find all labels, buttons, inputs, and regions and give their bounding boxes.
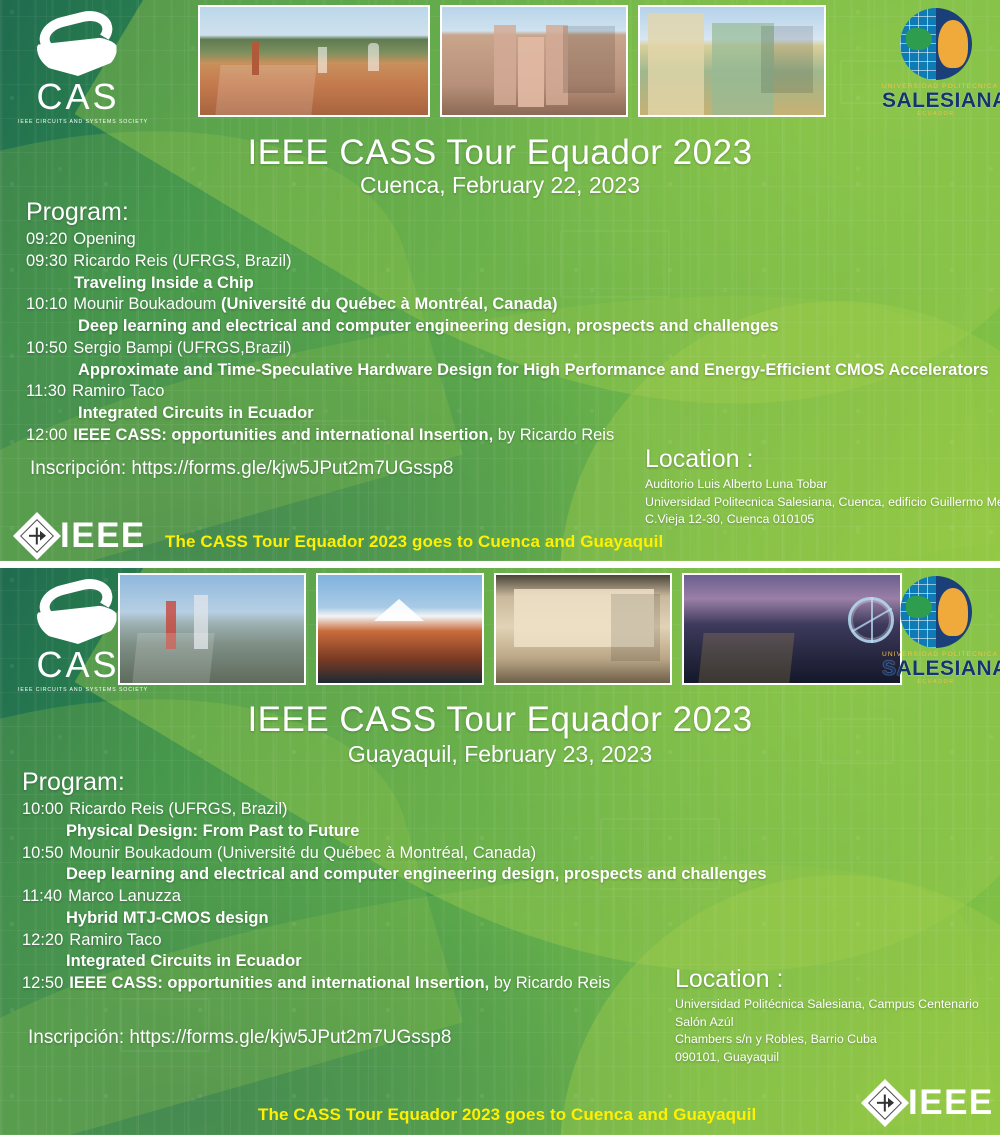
cas-emblem-icon bbox=[31, 14, 126, 76]
program-talk-title: Deep learning and electrical and compute… bbox=[22, 864, 767, 886]
location-line: Auditorio Luis Alberto Luna Tobar bbox=[645, 476, 1000, 494]
tagline-cuenca: The CASS Tour Equador 2023 goes to Cuenc… bbox=[165, 532, 663, 552]
program-speaker: by Ricardo Reis bbox=[489, 974, 610, 992]
tagline-guayaquil: The CASS Tour Equador 2023 goes to Cuenc… bbox=[258, 1105, 756, 1125]
location-heading: Location : bbox=[645, 446, 1000, 472]
program-speaker: Ramiro Taco bbox=[72, 382, 164, 400]
program-time: 10:50 bbox=[22, 844, 63, 862]
inscription-link-guayaquil[interactable]: Inscripción: https://forms.gle/kjw5JPut2… bbox=[28, 1027, 451, 1049]
program-heading: Program: bbox=[26, 198, 989, 227]
program-talk-title: Hybrid MTJ-CMOS design bbox=[22, 908, 767, 930]
program-time: 12:00 bbox=[26, 426, 67, 444]
program-speaker-affiliation: (Université du Québec à Montréal, Canada… bbox=[221, 295, 558, 313]
guayaquil-skyline-photo bbox=[118, 573, 306, 685]
program-row: 09:30Ricardo Reis (UFRGS, Brazil) bbox=[26, 251, 989, 273]
ups-globe-icon bbox=[900, 576, 972, 648]
colonial-building-photo bbox=[494, 573, 672, 685]
cas-logo: CAS IEEE CIRCUITS AND SYSTEMS SOCIETY bbox=[18, 14, 138, 119]
program-talk-title: IEEE CASS: opportunities and internation… bbox=[69, 974, 489, 992]
program-talk-title: Approximate and Time-Speculative Hardwar… bbox=[26, 360, 989, 382]
location-line: Chambers s/n y Robles, Barrio Cuba bbox=[675, 1031, 979, 1049]
location-block-cuenca: Location : Auditorio Luis Alberto Luna T… bbox=[645, 446, 1000, 529]
cotopaxi-volcano-photo bbox=[316, 573, 484, 685]
ieee-diamond-icon bbox=[13, 511, 61, 559]
program-heading: Program: bbox=[22, 768, 767, 797]
program-speaker: Ricardo Reis (UFRGS, Brazil) bbox=[69, 800, 287, 818]
program-row: 12:20Ramiro Taco bbox=[22, 930, 767, 952]
location-line: C.Vieja 12-30, Cuenca 010105 bbox=[645, 511, 1000, 529]
program-time: 10:10 bbox=[26, 295, 67, 313]
cas-logo-subtitle: IEEE CIRCUITS AND SYSTEMS SOCIETY bbox=[18, 687, 138, 693]
program-time: 11:40 bbox=[22, 887, 62, 905]
panel-cuenca: CAS IEEE CIRCUITS AND SYSTEMS SOCIETY bbox=[0, 0, 1000, 561]
ups-logo-line2: SALESIANA bbox=[882, 658, 990, 679]
cas-logo-subtitle: IEEE CIRCUITS AND SYSTEMS SOCIETY bbox=[18, 119, 138, 125]
panel-guayaquil-program: Program: 10:00Ricardo Reis (UFRGS, Brazi… bbox=[22, 768, 767, 995]
ups-salesiana-logo: UNIVERSIDAD POLITECNICA SALESIANA ECUADO… bbox=[882, 576, 990, 684]
location-line: 090101, Guayaquil bbox=[675, 1049, 979, 1067]
poster-root: CAS IEEE CIRCUITS AND SYSTEMS SOCIETY bbox=[0, 0, 1000, 1135]
program-row: 12:00IEEE CASS: opportunities and intern… bbox=[26, 425, 989, 447]
program-time: 09:30 bbox=[26, 252, 67, 270]
program-speaker: Ricardo Reis (UFRGS, Brazil) bbox=[73, 252, 291, 270]
panel-cuenca-subtitle: Cuenca, February 22, 2023 bbox=[0, 172, 1000, 199]
program-row: 09:20Opening bbox=[26, 229, 989, 251]
ieee-diamond-icon bbox=[861, 1078, 909, 1126]
program-talk-title: Integrated Circuits in Ecuador bbox=[26, 403, 989, 425]
location-line: Salón Azúl bbox=[675, 1014, 979, 1032]
program-row: 10:50Sergio Bampi (UFRGS,Brazil) bbox=[26, 338, 989, 360]
cas-logo-word: CAS bbox=[18, 79, 138, 115]
ieee-logo: IEEE bbox=[20, 518, 146, 553]
program-talk-title: Deep learning and electrical and compute… bbox=[26, 316, 989, 338]
program-row: 10:50Mounir Boukadoum (Université du Qué… bbox=[22, 843, 767, 865]
panel-cuenca-title: IEEE CASS Tour Equador 2023 bbox=[0, 133, 1000, 173]
ups-logo-line2: SALESIANA bbox=[882, 90, 990, 111]
ieee-logo-word: IEEE bbox=[908, 1085, 994, 1120]
program-talk-title: Physical Design: From Past to Future bbox=[22, 821, 767, 843]
panel-cuenca-header: CAS IEEE CIRCUITS AND SYSTEMS SOCIETY bbox=[0, 0, 1000, 122]
ups-globe-icon bbox=[900, 8, 972, 80]
location-line: Universidad Politecnica Salesiana, Cuenc… bbox=[645, 494, 1000, 512]
program-speaker: by Ricardo Reis bbox=[493, 426, 614, 444]
location-block-guayaquil: Location : Universidad Politécnica Sales… bbox=[675, 966, 979, 1067]
program-time: 12:50 bbox=[22, 974, 63, 992]
guayaquil-photo-strip bbox=[118, 573, 902, 685]
location-line: Universidad Politécnica Salesiana, Campu… bbox=[675, 996, 979, 1014]
ieee-logo-word: IEEE bbox=[60, 518, 146, 553]
program-time: 12:20 bbox=[22, 931, 63, 949]
cuenca-photo-strip bbox=[198, 5, 826, 117]
cuenca-skyline-photo bbox=[198, 5, 430, 117]
program-time: 10:50 bbox=[26, 339, 67, 357]
cuenca-colonial-street-photo bbox=[638, 5, 826, 117]
cas-emblem-icon bbox=[31, 582, 126, 644]
program-speaker: Marco Lanuzza bbox=[68, 887, 181, 905]
program-time: 11:30 bbox=[26, 382, 66, 400]
program-row: 11:40Marco Lanuzza bbox=[22, 886, 767, 908]
panel-guayaquil-title: IEEE CASS Tour Equador 2023 bbox=[0, 700, 1000, 740]
panel-guayaquil-header: CAS IEEE CIRCUITS AND SYSTEMS SOCIETY bbox=[0, 568, 1000, 690]
program-row: 11:30Ramiro Taco bbox=[26, 381, 989, 403]
malecon-ferris-wheel-photo bbox=[682, 573, 902, 685]
program-speaker: Sergio Bampi (UFRGS,Brazil) bbox=[73, 339, 291, 357]
panel-guayaquil-subtitle: Guayaquil, February 23, 2023 bbox=[0, 741, 1000, 768]
program-row: 12:50IEEE CASS: opportunities and intern… bbox=[22, 973, 767, 995]
location-heading: Location : bbox=[675, 966, 979, 992]
program-speaker: Mounir Boukadoum bbox=[73, 295, 221, 313]
ieee-logo: IEEE bbox=[868, 1085, 994, 1120]
program-speaker: Ramiro Taco bbox=[69, 931, 161, 949]
program-talk-title: Traveling Inside a Chip bbox=[26, 273, 989, 295]
program-talk-title: IEEE CASS: opportunities and internation… bbox=[73, 426, 493, 444]
ups-salesiana-logo: UNIVERSIDAD POLITECNICA SALESIANA ECUADO… bbox=[882, 8, 990, 116]
program-speaker: Opening bbox=[73, 230, 135, 248]
program-time: 09:20 bbox=[26, 230, 67, 248]
inscription-link-cuenca[interactable]: Inscripción: https://forms.gle/kjw5JPut2… bbox=[30, 458, 453, 480]
program-row: 10:00Ricardo Reis (UFRGS, Brazil) bbox=[22, 799, 767, 821]
program-time: 10:00 bbox=[22, 800, 63, 818]
program-speaker: Mounir Boukadoum (Université du Québec à… bbox=[69, 844, 536, 862]
panel-cuenca-program: Program: 09:20Opening 09:30Ricardo Reis … bbox=[26, 198, 989, 447]
program-row: 10:10Mounir Boukadoum (Université du Qué… bbox=[26, 294, 989, 316]
program-talk-title: Integrated Circuits in Ecuador bbox=[22, 951, 767, 973]
cuenca-cathedral-photo bbox=[440, 5, 628, 117]
